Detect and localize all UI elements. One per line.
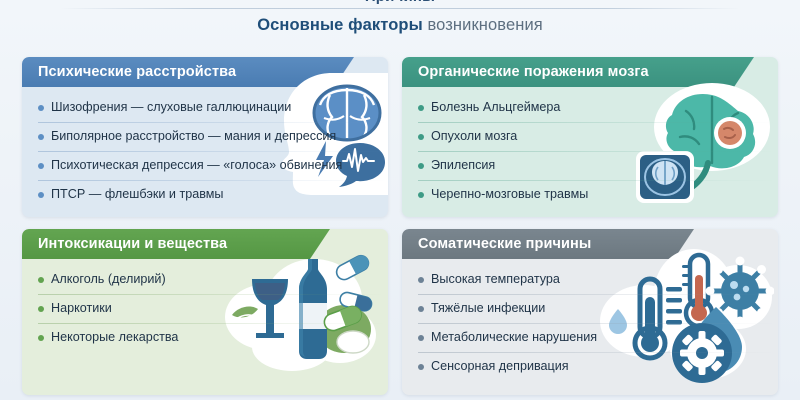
bullet-icon [418,277,424,283]
page-title-rest: возникновения [428,16,543,34]
list-item[interactable]: Алкоголь (делирий) [38,266,388,294]
bullet-icon [38,306,44,312]
list-item[interactable]: Высокая температура [418,266,778,294]
card-title: Соматические причины [418,236,591,252]
list-item-label: Эпилепсия [431,158,495,173]
card-mental-disorders[interactable]: Психические расстройства Шизофрения — сл… [22,57,388,217]
list-item-label: ПТСР — флешбэки и травмы [51,187,223,202]
bullet-icon [418,163,424,169]
list-item-label: Шизофрения — слуховые галлюцинации [51,100,291,115]
card-somatic-causes[interactable]: Соматические причины [402,229,778,395]
card-header-organic-brain-damage: Органические поражения мозга [402,57,754,87]
card-item-list-organic-brain-damage: Болезнь Альцгеймера Опухоли мозга Эпилеп… [402,87,778,217]
list-item[interactable]: Шизофрения — слуховые галлюцинации [38,94,388,122]
card-title: Интоксикации и вещества [38,236,227,252]
list-item[interactable]: Черепно-мозговые травмы [418,181,778,209]
bullet-icon [38,192,44,198]
bullet-icon [418,192,424,198]
list-item[interactable]: Биполярное расстройство — мания и депрес… [38,123,388,151]
card-item-list-somatic-causes: Высокая температура Тяжёлые инфекции Мет… [402,259,778,395]
page-title: Основные факторы возникновения [0,16,800,35]
list-item[interactable]: Некоторые лекарства [38,324,388,352]
card-organic-brain-damage[interactable]: Органические поражения мозга [402,57,778,217]
bullet-icon [38,277,44,283]
card-item-list-intoxications-substances: Алкоголь (делирий) Наркотики Некоторые л… [22,259,388,395]
list-item-label: Метаболические нарушения [431,330,597,345]
list-item[interactable]: Психотическая депрессия — «голоса» обвин… [38,152,388,180]
card-header-somatic-causes: Соматические причины [402,229,694,259]
list-item-label: Алкоголь (делирий) [51,272,166,287]
list-item[interactable]: Метаболические нарушения [418,324,778,352]
bullet-icon [418,335,424,341]
card-title: Психические расстройства [38,64,236,80]
card-item-list-mental-disorders: Шизофрения — слуховые галлюцинации Бипол… [22,87,388,217]
bullet-icon [38,105,44,111]
card-title: Органические поражения мозга [418,64,649,80]
card-header-intoxications-substances: Интоксикации и вещества [22,229,330,259]
top-divider [60,8,740,9]
list-item-label: Болезнь Альцгеймера [431,100,560,115]
bullet-icon [38,335,44,341]
bullet-icon [418,105,424,111]
list-item[interactable]: Болезнь Альцгеймера [418,94,778,122]
bullet-icon [38,163,44,169]
card-intoxications-substances[interactable]: Интоксикации и вещества [22,229,388,395]
clipped-heading-above: Причины [300,0,500,5]
bullet-icon [418,134,424,140]
list-item-label: Наркотики [51,301,112,316]
list-item[interactable]: Наркотики [38,295,388,323]
list-item-label: Психотическая депрессия — «голоса» обвин… [51,158,342,173]
list-item-label: Высокая температура [431,272,560,287]
list-item[interactable]: Опухоли мозга [418,123,778,151]
list-item[interactable]: Сенсорная депривация [418,353,778,381]
list-item[interactable]: Тяжёлые инфекции [418,295,778,323]
list-item-label: Биполярное расстройство — мания и депрес… [51,129,336,144]
list-item-label: Черепно-мозговые травмы [431,187,588,202]
card-header-mental-disorders: Психические расстройства [22,57,354,87]
list-item[interactable]: Эпилепсия [418,152,778,180]
bullet-icon [38,134,44,140]
factor-card-grid: Психические расстройства Шизофрения — сл… [22,57,778,395]
list-item-label: Тяжёлые инфекции [431,301,545,316]
list-item-label: Сенсорная депривация [431,359,569,374]
list-item-label: Некоторые лекарства [51,330,178,345]
list-item[interactable]: ПТСР — флешбэки и травмы [38,181,388,209]
list-item-label: Опухоли мозга [431,129,517,144]
page-title-bold: Основные факторы [257,16,423,34]
bullet-icon [418,306,424,312]
bullet-icon [418,364,424,370]
